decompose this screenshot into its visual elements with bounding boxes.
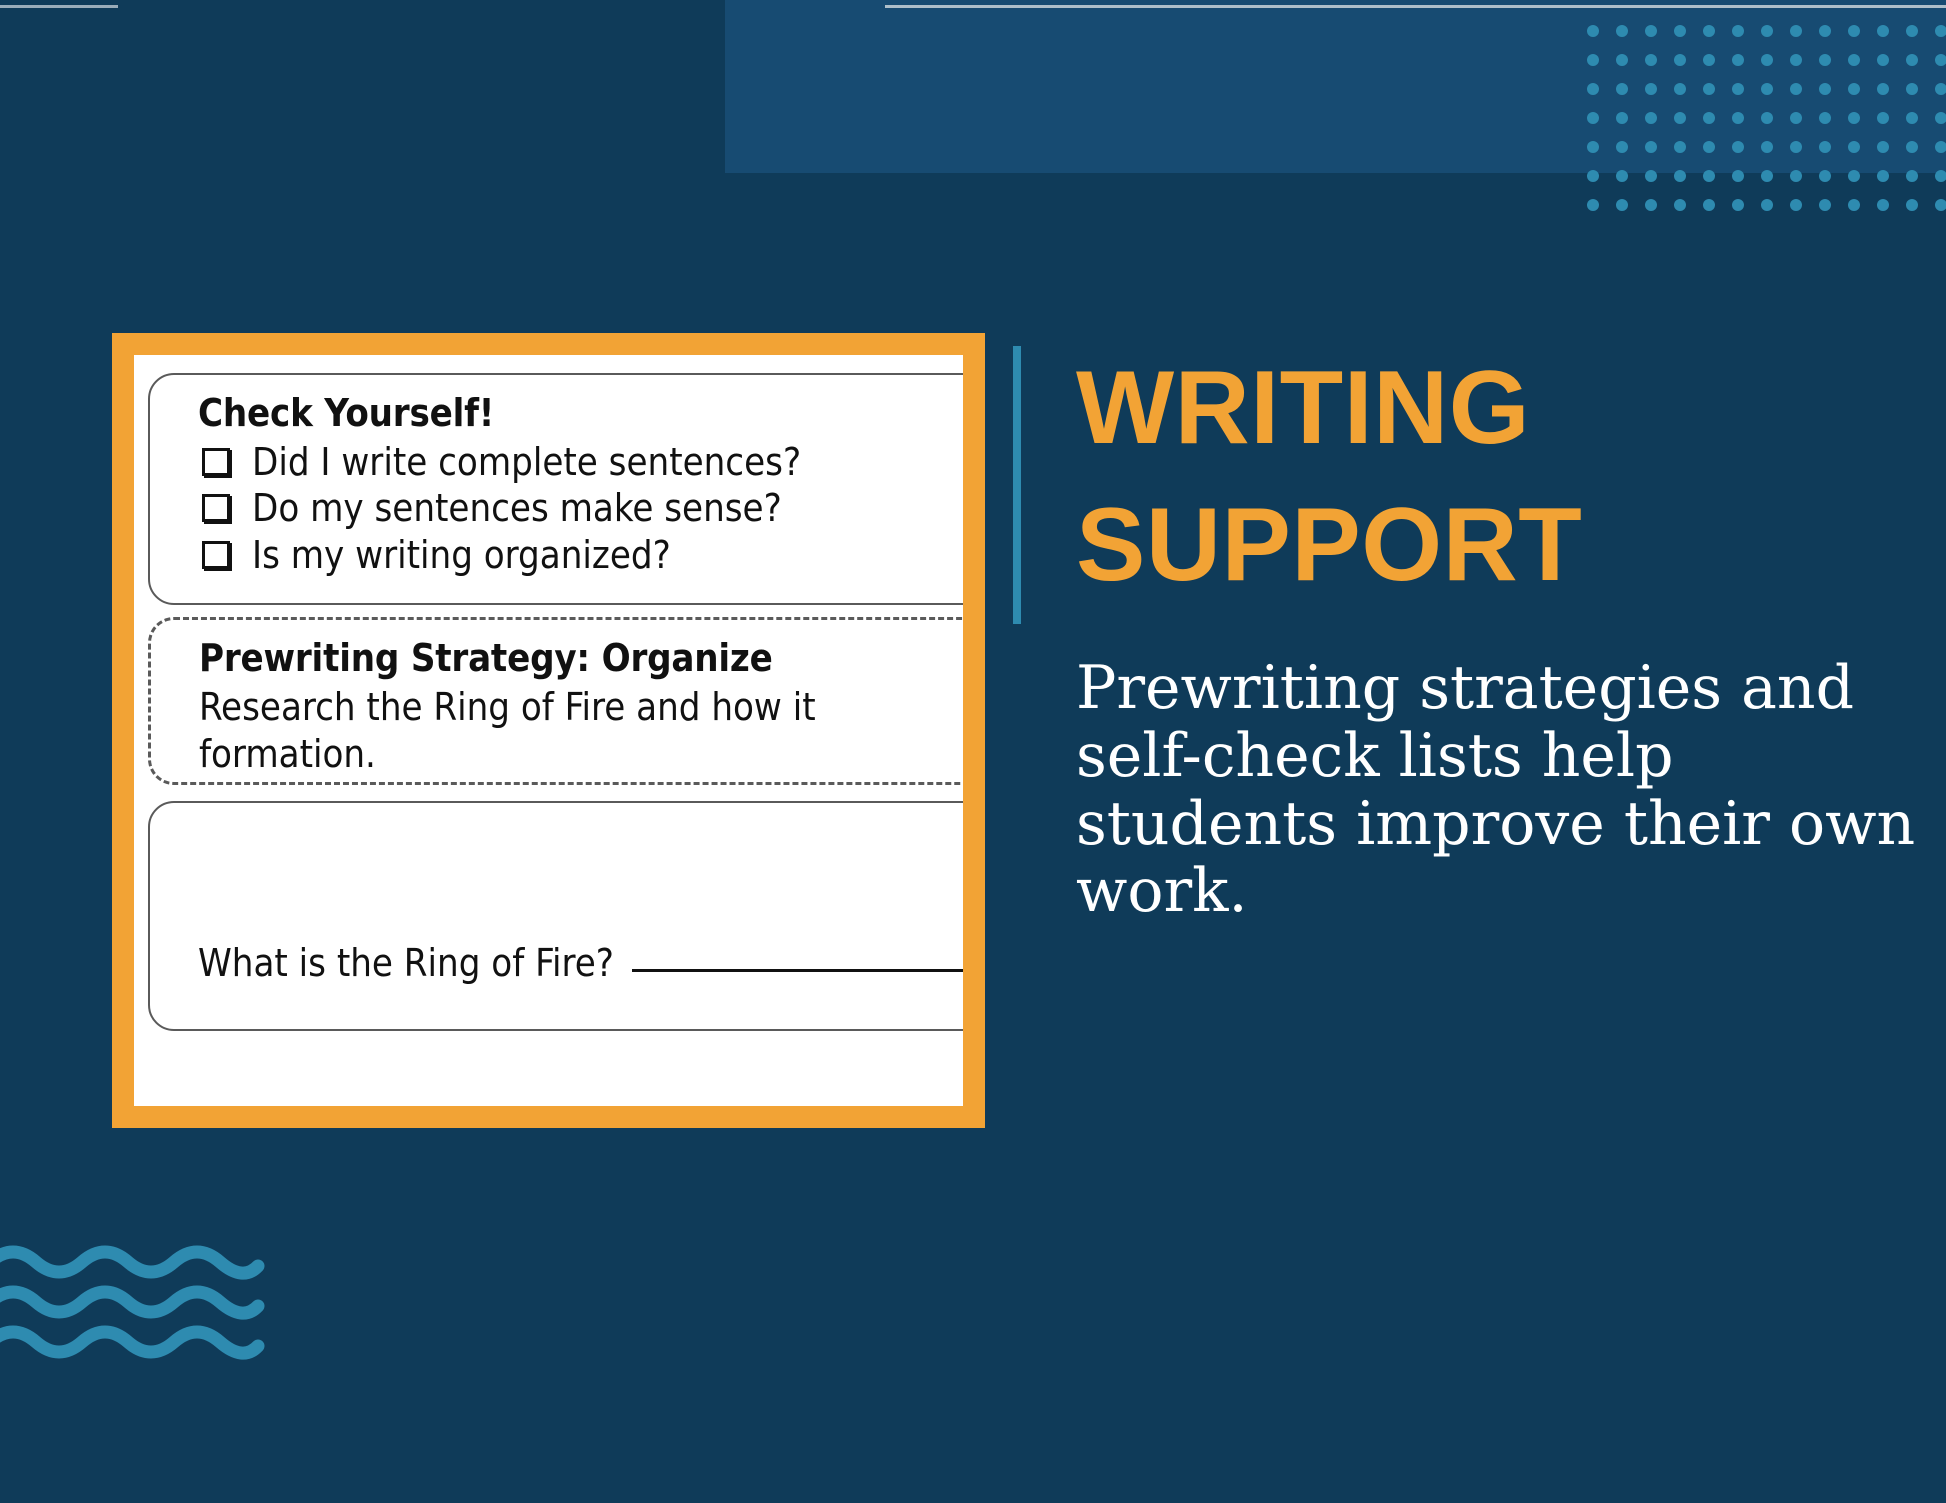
worksheet-page: Check Yourself! Did I write complete sen… — [134, 355, 963, 1106]
wave-lines-decoration — [0, 1244, 300, 1364]
dot-grid-decoration — [1586, 24, 1946, 232]
prewriting-strategy-body: Research the Ring of Fire and how it for… — [151, 684, 963, 778]
body-paragraph: Prewriting strategies and self-check lis… — [1076, 655, 1926, 926]
checklist-item-label: Did I write complete sentences? — [252, 439, 801, 485]
title-block: WRITING SUPPORT — [1013, 340, 1893, 615]
checkbox-icon[interactable] — [202, 494, 230, 522]
checkbox-icon[interactable] — [202, 448, 230, 476]
prewriting-line: formation. — [199, 731, 963, 778]
prewriting-strategy-box: Prewriting Strategy: Organize Research t… — [148, 617, 963, 785]
checkbox-icon[interactable] — [202, 541, 230, 569]
prewriting-strategy-heading: Prewriting Strategy: Organize — [151, 620, 963, 680]
checklist-item: Is my writing organized? — [150, 532, 963, 578]
page-title-line-1: WRITING — [1076, 340, 1893, 477]
page-title-line-2: SUPPORT — [1076, 477, 1893, 614]
top-hairline-right — [885, 5, 1946, 8]
checklist-item: Did I write complete sentences? — [150, 439, 963, 485]
top-hairline-left — [0, 5, 118, 8]
checklist-item-label: Do my sentences make sense? — [252, 485, 782, 531]
check-yourself-heading: Check Yourself! — [150, 375, 963, 435]
title-accent-bar — [1013, 346, 1021, 624]
question-box: What is the Ring of Fire? — [148, 801, 963, 1031]
answer-blank-line[interactable] — [632, 968, 963, 972]
page-title: WRITING SUPPORT — [1013, 340, 1893, 615]
question-prompt: What is the Ring of Fire? — [198, 941, 614, 985]
checklist-item-label: Is my writing organized? — [252, 532, 671, 578]
worksheet-scan-content: Check Yourself! Did I write complete sen… — [134, 355, 963, 1106]
prewriting-line: Research the Ring of Fire and how it — [199, 684, 963, 731]
slide-canvas: Check Yourself! Did I write complete sen… — [0, 0, 1946, 1503]
check-yourself-box: Check Yourself! Did I write complete sen… — [148, 373, 963, 605]
checklist-item: Do my sentences make sense? — [150, 485, 963, 531]
question-row: What is the Ring of Fire? — [198, 941, 963, 985]
worksheet-image-frame: Check Yourself! Did I write complete sen… — [112, 333, 985, 1128]
